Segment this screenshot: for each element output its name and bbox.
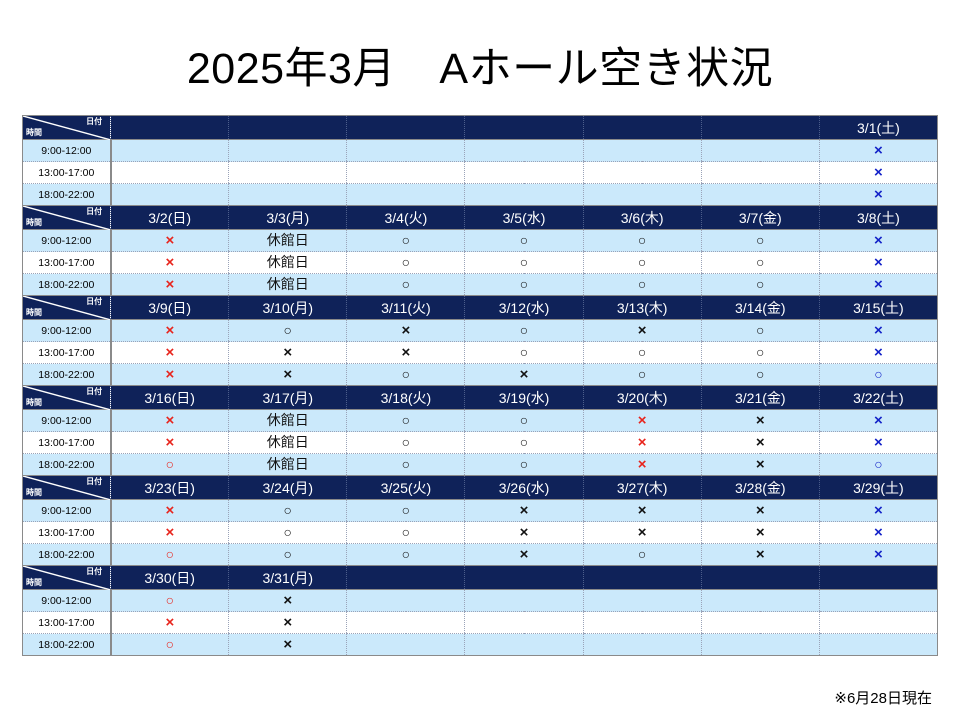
date-header-cell: 3/6(木): [583, 206, 701, 230]
availability-cell[interactable]: ×: [819, 230, 937, 252]
date-axis-label: 日付: [86, 567, 102, 577]
availability-mark: ○: [874, 367, 882, 381]
availability-mark: ×: [874, 547, 883, 562]
availability-cell[interactable]: 休館日: [229, 454, 347, 476]
availability-cell-empty[interactable]: [701, 590, 819, 612]
time-slot-label: 9:00-12:00: [23, 410, 111, 432]
availability-cell[interactable]: ○: [583, 544, 701, 566]
availability-cell-empty[interactable]: [347, 612, 465, 634]
availability-cell[interactable]: ×: [229, 612, 347, 634]
availability-mark: ×: [166, 413, 175, 428]
time-axis-label: 時間: [26, 218, 42, 228]
date-header-cell-empty: [701, 566, 819, 590]
availability-mark: ○: [756, 345, 764, 359]
availability-cell-empty[interactable]: [819, 612, 937, 634]
availability-mark: ○: [166, 547, 174, 561]
availability-cell[interactable]: ×: [465, 500, 583, 522]
date-header-row: 日付時間3/9(日)3/10(月)3/11(火)3/12(水)3/13(木)3/…: [23, 296, 938, 320]
availability-mark: ○: [284, 525, 292, 539]
date-header-cell-empty: [465, 116, 583, 140]
time-slot-label: 13:00-17:00: [23, 162, 111, 184]
availability-cell[interactable]: ×: [111, 252, 229, 274]
page-title: 2025年3月 Aホール空き状況: [0, 34, 960, 96]
availability-mark: ○: [520, 345, 528, 359]
availability-cell[interactable]: ×: [583, 500, 701, 522]
availability-mark: ○: [284, 323, 292, 337]
availability-cell[interactable]: ○: [465, 410, 583, 432]
availability-cell[interactable]: ×: [701, 522, 819, 544]
availability-cell[interactable]: ×: [583, 454, 701, 476]
availability-cell[interactable]: ×: [111, 230, 229, 252]
availability-cell[interactable]: ○: [347, 274, 465, 296]
availability-cell-empty[interactable]: [347, 184, 465, 206]
availability-cell[interactable]: ○: [347, 454, 465, 476]
date-header-cell: 3/3(月): [229, 206, 347, 230]
availability-mark: ×: [166, 323, 175, 338]
availability-cell[interactable]: ○: [347, 544, 465, 566]
availability-cell[interactable]: ×: [819, 522, 937, 544]
availability-cell-empty[interactable]: [465, 184, 583, 206]
availability-cell[interactable]: ○: [583, 342, 701, 364]
availability-cell[interactable]: ○: [347, 410, 465, 432]
availability-cell[interactable]: ×: [819, 140, 937, 162]
date-header-cell: 3/30(日): [111, 566, 229, 590]
availability-mark: ×: [166, 255, 175, 270]
date-header-cell: 3/21(金): [701, 386, 819, 410]
availability-cell[interactable]: ×: [819, 162, 937, 184]
availability-mark: ×: [638, 457, 647, 472]
availability-cell[interactable]: ×: [583, 432, 701, 454]
availability-mark: ○: [638, 233, 646, 247]
availability-mark: ×: [283, 345, 292, 360]
availability-mark: 休館日: [267, 277, 309, 291]
availability-mark: 休館日: [267, 255, 309, 269]
time-axis-label: 時間: [26, 488, 42, 498]
availability-mark: ○: [520, 413, 528, 427]
availability-cell-empty[interactable]: [583, 612, 701, 634]
date-header-cell-empty: [111, 116, 229, 140]
date-header-cell-empty: [583, 566, 701, 590]
availability-cell[interactable]: ×: [819, 274, 937, 296]
time-slot-label: 9:00-12:00: [23, 590, 111, 612]
availability-cell-empty[interactable]: [465, 590, 583, 612]
time-axis-label: 時間: [26, 128, 42, 138]
time-slot-label: 13:00-17:00: [23, 432, 111, 454]
availability-cell[interactable]: ×: [111, 274, 229, 296]
availability-cell-empty[interactable]: [701, 634, 819, 656]
availability-mark: ×: [166, 233, 175, 248]
availability-mark: 休館日: [267, 413, 309, 427]
time-slot-label: 9:00-12:00: [23, 140, 111, 162]
availability-cell-empty[interactable]: [701, 612, 819, 634]
availability-cell[interactable]: ○: [465, 230, 583, 252]
availability-mark: ×: [756, 525, 765, 540]
time-slot-label: 13:00-17:00: [23, 252, 111, 274]
availability-mark: ○: [166, 457, 174, 471]
availability-mark: ×: [638, 503, 647, 518]
availability-cell[interactable]: ○: [111, 454, 229, 476]
date-header-cell: 3/17(月): [229, 386, 347, 410]
date-header-cell-empty: [229, 116, 347, 140]
availability-mark: ○: [402, 457, 410, 471]
date-header-cell: 3/27(木): [583, 476, 701, 500]
availability-row: 18:00-22:00×休館日○○○○×: [23, 274, 938, 296]
availability-mark: ○: [756, 255, 764, 269]
availability-mark: ×: [638, 525, 647, 540]
availability-mark: ○: [402, 277, 410, 291]
date-header-row: 日付時間3/30(日)3/31(月): [23, 566, 938, 590]
availability-cell[interactable]: 休館日: [229, 410, 347, 432]
availability-mark: ×: [874, 143, 883, 158]
availability-cell-empty[interactable]: [583, 634, 701, 656]
date-header-cell: 3/25(火): [347, 476, 465, 500]
date-header-cell: 3/19(水): [465, 386, 583, 410]
availability-cell[interactable]: ○: [819, 454, 937, 476]
availability-mark: ○: [402, 255, 410, 269]
time-slot-label: 18:00-22:00: [23, 544, 111, 566]
availability-cell[interactable]: ×: [111, 500, 229, 522]
time-axis-label: 時間: [26, 308, 42, 318]
availability-cell[interactable]: ×: [701, 454, 819, 476]
availability-cell[interactable]: 休館日: [229, 252, 347, 274]
availability-cell[interactable]: ○: [111, 590, 229, 612]
date-header-cell: 3/22(土): [819, 386, 937, 410]
availability-mark: ○: [166, 593, 174, 607]
availability-mark: ○: [638, 345, 646, 359]
availability-mark: ×: [638, 413, 647, 428]
availability-cell[interactable]: ×: [819, 252, 937, 274]
availability-cell-empty[interactable]: [347, 634, 465, 656]
availability-cell[interactable]: ○: [701, 252, 819, 274]
availability-cell[interactable]: ○: [583, 274, 701, 296]
availability-mark: ×: [520, 503, 529, 518]
availability-cell-empty[interactable]: [701, 140, 819, 162]
availability-mark: ×: [520, 525, 529, 540]
date-axis-label: 日付: [86, 117, 102, 127]
availability-cell[interactable]: ○: [347, 522, 465, 544]
table-corner-header: 日付時間: [23, 206, 111, 230]
availability-row: 13:00-17:00×休館日○○○○×: [23, 252, 938, 274]
availability-mark: ×: [283, 637, 292, 652]
date-header-cell: 3/5(水): [465, 206, 583, 230]
availability-cell[interactable]: ○: [347, 364, 465, 386]
availability-cell-empty[interactable]: [583, 162, 701, 184]
availability-cell-empty[interactable]: [347, 162, 465, 184]
availability-row: 9:00-12:00×○○××××: [23, 500, 938, 522]
availability-mark: ○: [520, 233, 528, 247]
availability-mark: ×: [166, 525, 175, 540]
availability-mark: ○: [520, 435, 528, 449]
availability-cell[interactable]: 休館日: [229, 432, 347, 454]
availability-mark: ×: [874, 233, 883, 248]
availability-mark: ○: [402, 367, 410, 381]
availability-mark: ×: [283, 367, 292, 382]
availability-cell[interactable]: ○: [347, 500, 465, 522]
availability-cell-empty[interactable]: [229, 184, 347, 206]
availability-mark: ○: [638, 547, 646, 561]
availability-cell[interactable]: ○: [701, 320, 819, 342]
availability-cell[interactable]: ×: [701, 500, 819, 522]
availability-cell[interactable]: ○: [229, 544, 347, 566]
footnote: ※6月28日現在: [834, 687, 932, 708]
availability-cell[interactable]: ○: [701, 274, 819, 296]
table-corner-header: 日付時間: [23, 566, 111, 590]
availability-cell-empty[interactable]: [111, 184, 229, 206]
availability-row: 9:00-12:00×休館日○○×××: [23, 410, 938, 432]
availability-mark: ×: [874, 503, 883, 518]
availability-cell[interactable]: ×: [583, 320, 701, 342]
availability-cell[interactable]: ○: [465, 342, 583, 364]
availability-cell-empty[interactable]: [347, 140, 465, 162]
availability-cell[interactable]: ×: [111, 364, 229, 386]
availability-mark: ×: [166, 277, 175, 292]
availability-table: 日付時間3/1(土)9:00-12:00×13:00-17:00×18:00-2…: [22, 115, 938, 656]
availability-row: 9:00-12:00×休館日○○○○×: [23, 230, 938, 252]
availability-cell[interactable]: ○: [583, 230, 701, 252]
date-header-cell: 3/8(土): [819, 206, 937, 230]
availability-cell[interactable]: ○: [347, 230, 465, 252]
availability-cell-empty[interactable]: [111, 140, 229, 162]
availability-cell-empty[interactable]: [583, 184, 701, 206]
availability-mark: ×: [283, 593, 292, 608]
availability-mark: ×: [874, 187, 883, 202]
availability-mark: ×: [874, 323, 883, 338]
date-header-cell: 3/24(月): [229, 476, 347, 500]
availability-mark: ×: [402, 323, 411, 338]
availability-row: 13:00-17:00×: [23, 162, 938, 184]
availability-mark: ×: [874, 525, 883, 540]
availability-cell-empty[interactable]: [111, 162, 229, 184]
availability-mark: ○: [520, 255, 528, 269]
availability-cell[interactable]: ×: [229, 364, 347, 386]
date-header-cell: 3/10(月): [229, 296, 347, 320]
availability-mark: ○: [756, 323, 764, 337]
availability-mark: ×: [874, 345, 883, 360]
availability-cell-empty[interactable]: [229, 162, 347, 184]
availability-cell[interactable]: ×: [347, 342, 465, 364]
availability-cell[interactable]: ×: [819, 410, 937, 432]
date-header-cell: 3/28(金): [701, 476, 819, 500]
availability-cell[interactable]: ○: [229, 522, 347, 544]
availability-mark: ○: [520, 323, 528, 337]
table-corner-header: 日付時間: [23, 386, 111, 410]
date-header-cell: 3/1(土): [819, 116, 937, 140]
availability-mark: ×: [756, 435, 765, 450]
availability-cell[interactable]: ×: [819, 432, 937, 454]
availability-cell[interactable]: ×: [229, 342, 347, 364]
date-header-cell: 3/11(火): [347, 296, 465, 320]
availability-cell[interactable]: ×: [583, 410, 701, 432]
availability-row: 18:00-22:00○○○×○××: [23, 544, 938, 566]
availability-mark: ×: [756, 413, 765, 428]
availability-cell[interactable]: ○: [229, 320, 347, 342]
availability-cell[interactable]: ×: [111, 320, 229, 342]
availability-mark: ○: [638, 277, 646, 291]
availability-cell[interactable]: ○: [583, 364, 701, 386]
availability-mark: ×: [874, 435, 883, 450]
date-header-cell: 3/13(木): [583, 296, 701, 320]
availability-cell[interactable]: ×: [111, 410, 229, 432]
date-header-cell: 3/31(月): [229, 566, 347, 590]
availability-cell[interactable]: ○: [701, 342, 819, 364]
availability-mark: ×: [756, 547, 765, 562]
availability-mark: ○: [284, 503, 292, 517]
availability-row: 9:00-12:00○×: [23, 590, 938, 612]
availability-cell[interactable]: ○: [465, 454, 583, 476]
availability-mark: ×: [756, 457, 765, 472]
availability-mark: ×: [166, 435, 175, 450]
availability-cell[interactable]: ○: [465, 252, 583, 274]
time-axis-label: 時間: [26, 578, 42, 588]
availability-cell-empty[interactable]: [465, 140, 583, 162]
availability-row: 9:00-12:00×○×○×○×: [23, 320, 938, 342]
time-slot-label: 18:00-22:00: [23, 634, 111, 656]
availability-cell[interactable]: ×: [819, 544, 937, 566]
availability-mark: ×: [874, 413, 883, 428]
time-slot-label: 18:00-22:00: [23, 364, 111, 386]
availability-mark: ○: [638, 255, 646, 269]
time-slot-label: 18:00-22:00: [23, 274, 111, 296]
availability-cell[interactable]: ×: [701, 544, 819, 566]
availability-cell-empty[interactable]: [465, 162, 583, 184]
availability-cell-empty[interactable]: [583, 590, 701, 612]
availability-cell[interactable]: ○: [583, 252, 701, 274]
availability-cell[interactable]: ×: [819, 320, 937, 342]
availability-mark: ○: [402, 503, 410, 517]
availability-row: 13:00-17:00×××○○○×: [23, 342, 938, 364]
time-slot-label: 9:00-12:00: [23, 230, 111, 252]
date-header-cell: 3/14(金): [701, 296, 819, 320]
availability-cell[interactable]: ×: [819, 184, 937, 206]
availability-cell[interactable]: ×: [111, 342, 229, 364]
availability-cell[interactable]: 休館日: [229, 274, 347, 296]
availability-mark: ×: [166, 345, 175, 360]
time-slot-label: 9:00-12:00: [23, 500, 111, 522]
availability-cell[interactable]: ○: [465, 274, 583, 296]
availability-cell[interactable]: ×: [465, 522, 583, 544]
availability-cell[interactable]: ○: [465, 432, 583, 454]
availability-row: 18:00-22:00○休館日○○××○: [23, 454, 938, 476]
availability-cell[interactable]: ×: [465, 544, 583, 566]
date-header-cell: 3/7(金): [701, 206, 819, 230]
availability-cell-empty[interactable]: [465, 634, 583, 656]
availability-mark: ×: [402, 345, 411, 360]
availability-cell[interactable]: ×: [583, 522, 701, 544]
time-slot-label: 13:00-17:00: [23, 612, 111, 634]
availability-cell[interactable]: ○: [701, 230, 819, 252]
date-header-cell-empty: [465, 566, 583, 590]
availability-mark: ○: [402, 525, 410, 539]
availability-cell[interactable]: ×: [229, 590, 347, 612]
availability-cell-empty[interactable]: [465, 612, 583, 634]
availability-mark: ×: [166, 615, 175, 630]
date-header-row: 日付時間3/16(日)3/17(月)3/18(火)3/19(水)3/20(木)3…: [23, 386, 938, 410]
availability-cell[interactable]: ×: [819, 342, 937, 364]
availability-cell[interactable]: ×: [111, 522, 229, 544]
availability-mark: ×: [638, 435, 647, 450]
availability-mark: 休館日: [267, 233, 309, 247]
date-axis-label: 日付: [86, 477, 102, 487]
availability-mark: ○: [874, 457, 882, 471]
date-header-cell: 3/20(木): [583, 386, 701, 410]
availability-mark: ×: [874, 255, 883, 270]
availability-mark: ×: [874, 165, 883, 180]
availability-cell[interactable]: ○: [347, 252, 465, 274]
date-header-row: 日付時間3/1(土): [23, 116, 938, 140]
availability-cell-empty[interactable]: [347, 590, 465, 612]
date-header-row: 日付時間3/23(日)3/24(月)3/25(火)3/26(水)3/27(木)3…: [23, 476, 938, 500]
table-corner-header: 日付時間: [23, 296, 111, 320]
availability-cell-empty[interactable]: [819, 634, 937, 656]
availability-mark: ○: [756, 277, 764, 291]
availability-cell[interactable]: ×: [229, 634, 347, 656]
date-header-cell: 3/18(火): [347, 386, 465, 410]
date-header-cell: 3/4(火): [347, 206, 465, 230]
availability-mark: ○: [638, 367, 646, 381]
availability-mark: ×: [166, 367, 175, 382]
availability-row: 13:00-17:00×○○××××: [23, 522, 938, 544]
availability-cell[interactable]: ×: [819, 500, 937, 522]
date-header-cell-empty: [819, 566, 937, 590]
availability-mark: ×: [520, 547, 529, 562]
availability-cell[interactable]: ○: [701, 364, 819, 386]
date-header-cell: 3/23(日): [111, 476, 229, 500]
availability-cell-empty[interactable]: [701, 184, 819, 206]
availability-cell[interactable]: 休館日: [229, 230, 347, 252]
availability-mark: 休館日: [267, 435, 309, 449]
date-header-cell: 3/29(土): [819, 476, 937, 500]
availability-mark: ×: [283, 615, 292, 630]
time-slot-label: 18:00-22:00: [23, 454, 111, 476]
availability-cell[interactable]: ×: [701, 410, 819, 432]
availability-row: 18:00-22:00○×: [23, 634, 938, 656]
availability-mark: ×: [166, 503, 175, 518]
date-header-cell: 3/16(日): [111, 386, 229, 410]
date-header-row: 日付時間3/2(日)3/3(月)3/4(火)3/5(水)3/6(木)3/7(金)…: [23, 206, 938, 230]
availability-cell[interactable]: ○: [465, 320, 583, 342]
availability-cell[interactable]: ○: [229, 500, 347, 522]
availability-cell[interactable]: ×: [111, 612, 229, 634]
availability-cell-empty[interactable]: [701, 162, 819, 184]
time-slot-label: 13:00-17:00: [23, 342, 111, 364]
date-header-cell-empty: [347, 116, 465, 140]
availability-row: 13:00-17:00×休館日○○×××: [23, 432, 938, 454]
availability-cell[interactable]: ○: [819, 364, 937, 386]
table-corner-header: 日付時間: [23, 116, 111, 140]
availability-cell[interactable]: ○: [111, 634, 229, 656]
date-axis-label: 日付: [86, 297, 102, 307]
availability-mark: ○: [166, 637, 174, 651]
availability-mark: ○: [402, 435, 410, 449]
date-header-cell: 3/12(水): [465, 296, 583, 320]
table-corner-header: 日付時間: [23, 476, 111, 500]
availability-cell[interactable]: ×: [465, 364, 583, 386]
availability-cell-empty[interactable]: [583, 140, 701, 162]
date-axis-label: 日付: [86, 207, 102, 217]
availability-cell[interactable]: ○: [111, 544, 229, 566]
availability-cell[interactable]: ×: [701, 432, 819, 454]
availability-cell-empty[interactable]: [819, 590, 937, 612]
availability-mark: ○: [756, 233, 764, 247]
availability-row: 13:00-17:00××: [23, 612, 938, 634]
availability-cell[interactable]: ×: [111, 432, 229, 454]
availability-cell[interactable]: ×: [347, 320, 465, 342]
date-header-cell: 3/9(日): [111, 296, 229, 320]
availability-cell[interactable]: ○: [347, 432, 465, 454]
availability-cell-empty[interactable]: [229, 140, 347, 162]
availability-row: 9:00-12:00×: [23, 140, 938, 162]
availability-row: 18:00-22:00×: [23, 184, 938, 206]
